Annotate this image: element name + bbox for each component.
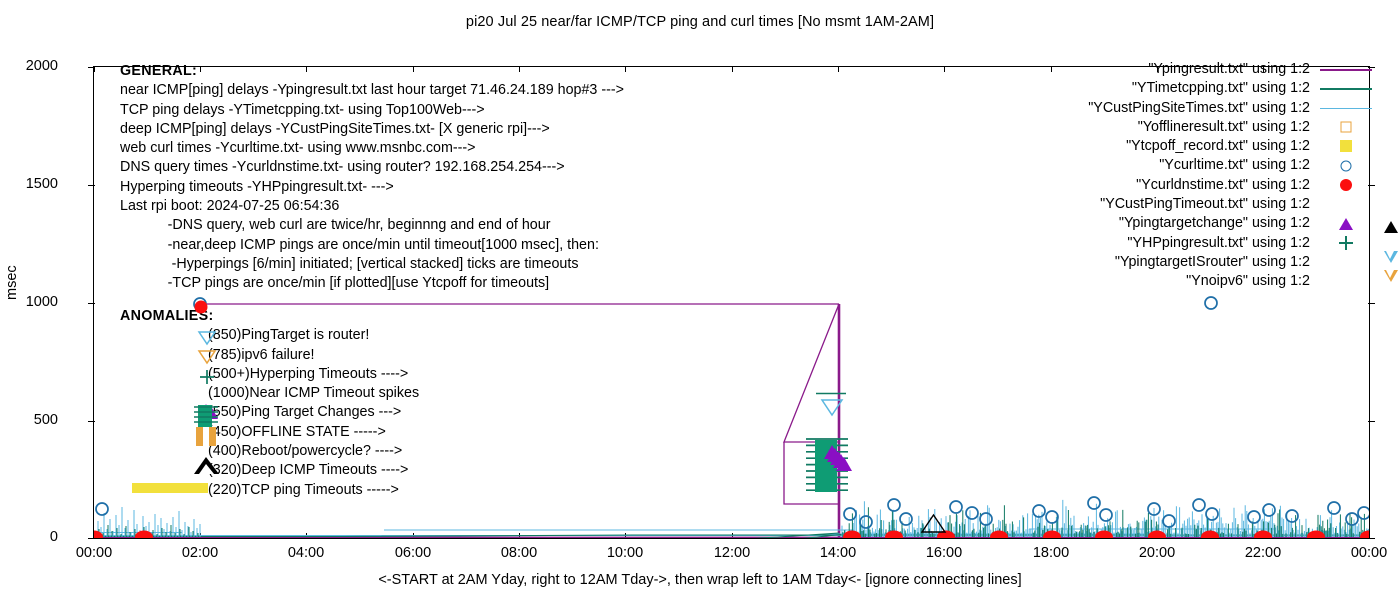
datapoint-dnstime-1000 — [195, 301, 208, 314]
legend-label: "Ypingtargetchange" using 1:2 — [1119, 214, 1320, 233]
marker-curltime — [1100, 509, 1112, 521]
legend-label: "Ycurldnstime.txt" using 1:2 — [1136, 176, 1320, 195]
general-line: web curl times -Ycurltime.txt- using www… — [120, 139, 624, 158]
legend-key-line-lightblue — [1320, 99, 1372, 118]
legend-key-filled-square-icon — [1320, 137, 1372, 156]
general-line: -TCP pings are once/min [if plotted][use… — [120, 274, 624, 293]
general-line: -near,deep ICMP pings are once/min until… — [120, 236, 624, 255]
legend-key-open-triangle-up-icon — [1320, 195, 1372, 214]
chart-title: pi20 Jul 25 near/far ICMP/TCP ping and c… — [0, 14, 1400, 30]
legend-entry: "Ycurltime.txt" using 1:2 — [1088, 156, 1372, 175]
y-tick-label: 2000 — [0, 58, 58, 74]
x-tick-label: 22:00 — [1245, 545, 1281, 561]
legend-key-open-square-icon — [1320, 118, 1372, 137]
legend-key-open-triangle-down-blue-icon — [1320, 253, 1372, 272]
marker-dnstime — [135, 531, 153, 539]
key-offline-square-inner — [203, 427, 209, 446]
general-line: Hyperping timeouts -YHPpingresult.txt- -… — [120, 178, 624, 197]
legend-label: "YCustPingSiteTimes.txt" using 1:2 — [1088, 99, 1320, 118]
key-open-triangle-down-yellow — [199, 351, 215, 363]
legend-entry: "Yofflineresult.txt" using 1:2 — [1088, 118, 1372, 137]
marker-curltime — [1206, 508, 1218, 520]
legend-label: "Ytcpoff_record.txt" using 1:2 — [1126, 137, 1320, 156]
x-tick-label: 16:00 — [926, 545, 962, 561]
marker-offline-state-block — [815, 440, 837, 492]
x-tick-label: 12:00 — [714, 545, 750, 561]
marker-curltime — [96, 503, 108, 515]
marker-curltime — [950, 501, 962, 513]
marker-curltime — [1193, 499, 1205, 511]
x-tick-label: 00:00 — [1351, 545, 1387, 561]
legend-label: "YpingtargetISrouter" using 1:2 — [1115, 253, 1320, 272]
legend-key-filled-circle-icon — [1320, 176, 1372, 195]
legend-key-open-triangle-down-yellow-icon — [1320, 272, 1372, 291]
legend-entry: "Ynoipv6" using 1:2 — [1088, 272, 1372, 291]
general-line: DNS query times -Ycurldnstime.txt- using… — [120, 158, 624, 177]
key-open-triangle-down-blue — [199, 332, 215, 344]
key-plus-green — [200, 370, 214, 384]
legend-entry: "Ypingresult.txt" using 1:2 — [1088, 60, 1372, 79]
marker-dnstime — [94, 531, 103, 539]
x-tick-label: 10:00 — [607, 545, 643, 561]
legend-label: "YCustPingTimeout.txt" using 1:2 — [1100, 195, 1320, 214]
legend-label: "Ypingresult.txt" using 1:2 — [1148, 60, 1320, 79]
key-pingtargetchange-stack — [194, 404, 218, 427]
marker-curltime — [1358, 507, 1369, 519]
marker-curltime-high — [1205, 297, 1217, 309]
legend-entry: "Ytcpoff_record.txt" using 1:2 — [1088, 137, 1372, 156]
marker-curltime — [1248, 511, 1260, 523]
x-tick-label: 20:00 — [1139, 545, 1175, 561]
legend-entry: "YHPpingresult.txt" using 1:2 — [1088, 234, 1372, 253]
legend-label: "YHPpingresult.txt" using 1:2 — [1127, 234, 1320, 253]
x-tick-label: 08:00 — [501, 545, 537, 561]
y-tick-label: 1500 — [0, 176, 58, 192]
general-line: near ICMP[ping] delays -Ypingresult.txt … — [120, 81, 624, 100]
marker-curltime — [900, 513, 912, 525]
legend-label: "Yofflineresult.txt" using 1:2 — [1138, 118, 1320, 137]
marker-curltime — [1088, 497, 1100, 509]
marker-curltime — [966, 507, 978, 519]
x-tick-label: 00:00 — [76, 545, 112, 561]
y-tick-label: 500 — [0, 412, 58, 428]
legend-entry: "YTimetcpping.txt" using 1:2 — [1088, 79, 1372, 98]
legend-key-line-purple — [1320, 60, 1372, 79]
x-tick-label: 06:00 — [395, 545, 431, 561]
general-line: -DNS query, web curl are twice/hr, begin… — [120, 216, 624, 235]
y-tick-label: 1000 — [0, 294, 58, 310]
legend-label: "Ycurltime.txt" using 1:2 — [1159, 156, 1320, 175]
x-tick-label: 04:00 — [288, 545, 324, 561]
x-tick-label: 14:00 — [820, 545, 856, 561]
legend-entry: "YCustPingSiteTimes.txt" using 1:2 — [1088, 99, 1372, 118]
legend-key-filled-triangle-up-icon — [1320, 215, 1372, 234]
legend: "Ypingresult.txt" using 1:2 "YTimetcppin… — [1088, 60, 1372, 292]
legend-label: "YTimetcpping.txt" using 1:2 — [1132, 79, 1320, 98]
marker-curltime — [1328, 502, 1340, 514]
legend-label: "Ynoipv6" using 1:2 — [1186, 272, 1320, 291]
legend-key-plus-icon — [1320, 234, 1372, 253]
legend-key-open-circle-icon — [1320, 157, 1372, 176]
key-yellow-bar — [132, 483, 208, 493]
marker-curltime — [888, 499, 900, 511]
marker-curltime — [844, 508, 856, 520]
general-annotation-block: GENERAL: near ICMP[ping] delays -Ypingre… — [120, 62, 624, 294]
legend-entry: "Ycurldnstime.txt" using 1:2 — [1088, 176, 1372, 195]
x-tick-label: 02:00 — [182, 545, 218, 561]
legend-entry: "YpingtargetISrouter" using 1:2 — [1088, 253, 1372, 272]
marker-curltime — [860, 516, 872, 528]
legend-key-line-teal — [1320, 79, 1372, 98]
legend-entry: "YCustPingTimeout.txt" using 1:2 — [1088, 195, 1372, 214]
general-heading: GENERAL: — [120, 62, 624, 81]
marker-curltime — [1163, 515, 1175, 527]
marker-curltime — [980, 513, 992, 525]
general-line: Last rpi boot: 2024-07-25 06:54:36 — [120, 197, 624, 216]
y-tick-label: 0 — [0, 529, 58, 545]
general-line: deep ICMP[ping] delays -YCustPingSiteTim… — [120, 120, 624, 139]
legend-entry: "Ypingtargetchange" using 1:2 — [1088, 214, 1372, 233]
anomaly-key-icons — [118, 292, 228, 502]
general-line: -Hyperpings [6/min] initiated; [vertical… — [120, 255, 624, 274]
general-line: TCP ping delays -YTimetcpping.txt- using… — [120, 101, 624, 120]
x-axis-caption: <-START at 2AM Yday, right to 12AM Tday-… — [0, 572, 1400, 588]
x-tick-label: 18:00 — [1033, 545, 1069, 561]
